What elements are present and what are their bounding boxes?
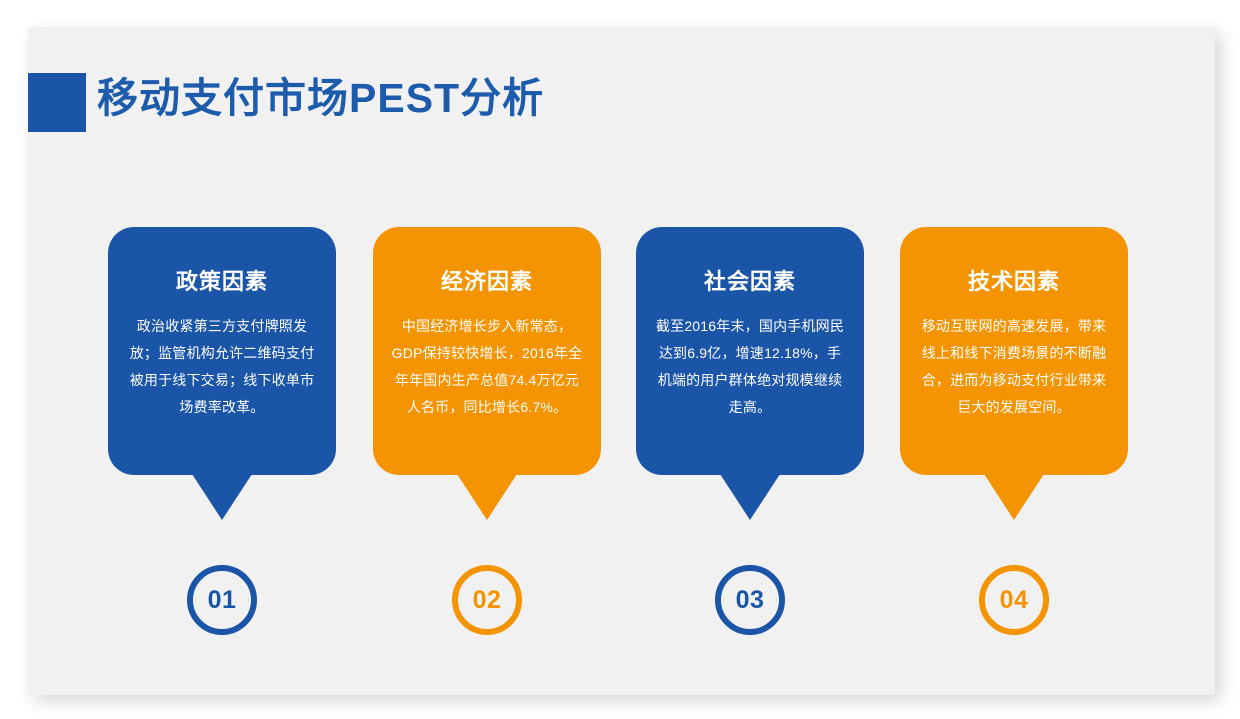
pest-card-pointer [984, 474, 1044, 520]
pest-card-pointer [720, 474, 780, 520]
pest-item-01: 政策因素 政治收紧第三方支付牌照发放；监管机构允许二维码支付被用于线下交易；线下… [108, 227, 336, 647]
pest-card-row: 政策因素 政治收紧第三方支付牌照发放；监管机构允许二维码支付被用于线下交易；线下… [28, 227, 1215, 647]
pest-card-pointer [192, 474, 252, 520]
pest-card-title: 政策因素 [124, 227, 320, 297]
pest-card-title: 经济因素 [389, 227, 585, 297]
pest-item-02: 经济因素 中国经济增长步入新常态，GDP保持较快增长，2016年全年年国内生产总… [373, 227, 601, 647]
pest-card-body: 移动互联网的高速发展，带来线上和线下消费场景的不断融合，进而为移动支付行业带来巨… [916, 297, 1112, 421]
pest-card-pointer [457, 474, 517, 520]
pest-number-badge-01[interactable]: 01 [187, 565, 257, 635]
pest-number-badge-03[interactable]: 03 [715, 565, 785, 635]
pest-number-label: 02 [473, 588, 502, 613]
pest-card-title: 技术因素 [916, 227, 1112, 297]
pest-card-body: 中国经济增长步入新常态，GDP保持较快增长，2016年全年年国内生产总值74.4… [389, 297, 585, 421]
slide-header: 移动支付市场PEST分析 [28, 73, 1215, 132]
pest-number-badge-02[interactable]: 02 [452, 565, 522, 635]
pest-card-body: 截至2016年末，国内手机网民达到6.9亿，增速12.18%，手机端的用户群体绝… [652, 297, 848, 421]
header-accent-square [28, 73, 86, 132]
pest-card-title: 社会因素 [652, 227, 848, 297]
slide-canvas: 移动支付市场PEST分析 政策因素 政治收紧第三方支付牌照发放；监管机构允许二维… [28, 27, 1215, 695]
page-title: 移动支付市场PEST分析 [97, 67, 544, 130]
pest-number-label: 01 [208, 588, 237, 613]
pest-card-01[interactable]: 政策因素 政治收紧第三方支付牌照发放；监管机构允许二维码支付被用于线下交易；线下… [108, 227, 336, 475]
pest-card-03[interactable]: 社会因素 截至2016年末，国内手机网民达到6.9亿，增速12.18%，手机端的… [636, 227, 864, 475]
pest-number-label: 03 [736, 588, 765, 613]
pest-card-04[interactable]: 技术因素 移动互联网的高速发展，带来线上和线下消费场景的不断融合，进而为移动支付… [900, 227, 1128, 475]
pest-card-02[interactable]: 经济因素 中国经济增长步入新常态，GDP保持较快增长，2016年全年年国内生产总… [373, 227, 601, 475]
pest-item-04: 技术因素 移动互联网的高速发展，带来线上和线下消费场景的不断融合，进而为移动支付… [900, 227, 1128, 647]
pest-item-03: 社会因素 截至2016年末，国内手机网民达到6.9亿，增速12.18%，手机端的… [636, 227, 864, 647]
pest-number-label: 04 [1000, 588, 1029, 613]
pest-card-body: 政治收紧第三方支付牌照发放；监管机构允许二维码支付被用于线下交易；线下收单市场费… [124, 297, 320, 421]
pest-number-badge-04[interactable]: 04 [979, 565, 1049, 635]
